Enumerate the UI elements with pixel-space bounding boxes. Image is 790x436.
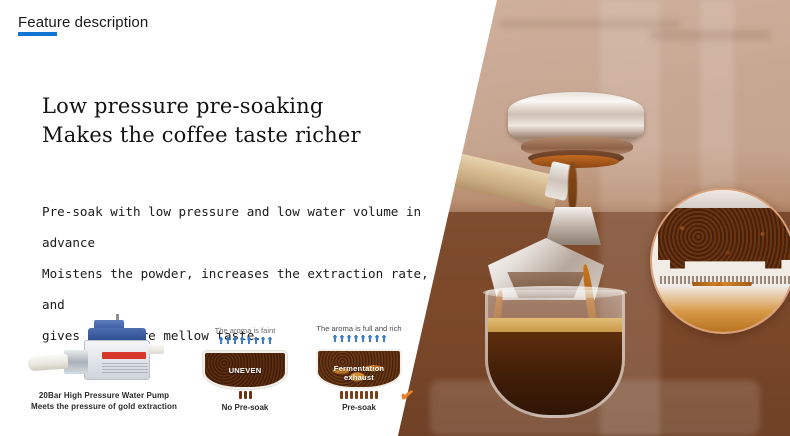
no-presoak-puck-label: UNEVEN [205,366,285,375]
feature-pump-caption-line2: Meets the pressure of gold extraction [24,401,184,412]
feature-description-page: Feature description Low pressure pre-soa… [0,0,790,436]
water-pump-icon [24,330,184,385]
inset-background-lower [652,286,790,332]
no-presoak-drips-icon [190,391,300,400]
feature-pump-caption-line1: 20Bar High Pressure Water Pump [24,390,184,401]
presoak-puck-label: Fermentation exhaust [318,364,400,382]
pump-label-text [102,363,148,374]
check-icon: ✔ [399,386,415,405]
pump-label-stripe [102,352,146,359]
pump-outlet [148,344,164,354]
feature-no-presoak: The aroma is faint UNEVEN No Pre-soak [190,326,300,412]
feature-pump: 20Bar High Pressure Water Pump Meets the… [24,330,184,385]
presoak-puck-icon: Fermentation exhaust [316,349,402,389]
cup-rim [483,286,627,299]
feature-presoak: The aroma is full and rich Fermentation … [300,324,418,412]
espresso-stream [568,162,577,212]
coffee-liquid [488,332,622,418]
feature-pump-caption: 20Bar High Pressure Water Pump Meets the… [24,390,184,412]
glass-shadow [650,30,770,40]
pump-nozzle [28,354,69,372]
water-flow-arrows-icon [190,338,300,351]
water-flow-arrows-icon [300,336,418,349]
text-content-area: Feature description Low pressure pre-soa… [0,0,500,436]
presoak-caption: Pre-soak [300,403,418,412]
section-tag-label: Feature description [18,14,148,31]
section-tag-underline [18,32,57,36]
inset-coffee-puck [658,208,790,280]
presoak-aroma-label: The aroma is full and rich [300,324,418,334]
magnifier-inset [650,188,790,334]
no-presoak-puck-icon: UNEVEN [203,351,287,389]
no-presoak-aroma-label: The aroma is faint [190,326,300,336]
feature-icon-row: 20Bar High Pressure Water Pump Meets the… [0,322,420,432]
no-presoak-caption: No Pre-soak [190,403,300,412]
page-headline: Low pressure pre-soaking Makes the coffe… [42,92,472,150]
pump-body [84,340,150,380]
espresso-glass-cup [485,290,625,418]
glass-shadow [500,20,680,28]
